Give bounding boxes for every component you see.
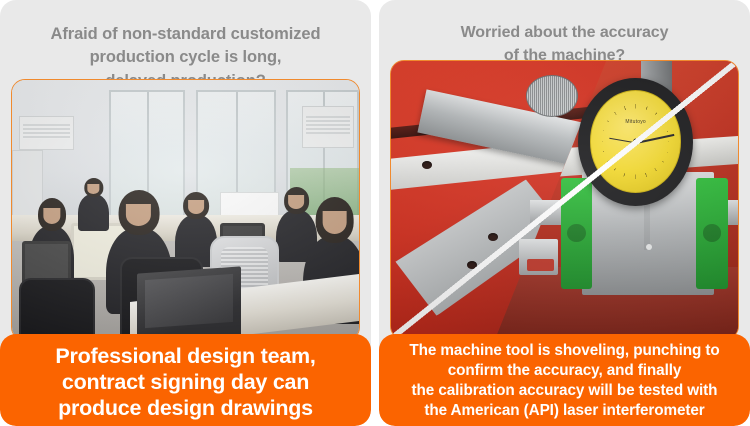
comparison-banner: Afraid of non-standard customized produc…: [0, 0, 750, 426]
panel-caption-left: Professional design team, contract signi…: [0, 334, 371, 426]
photo-frame-design-team: [11, 79, 360, 341]
photo-frame-machine: Mitutoyo: [390, 60, 739, 340]
photo-vignette: [391, 61, 738, 339]
photo-vignette: [12, 80, 359, 340]
panel-machine-accuracy: Worried about the accuracy of the machin…: [379, 0, 750, 426]
office-photo: [12, 80, 359, 340]
machine-photo: Mitutoyo: [391, 61, 738, 339]
panel-design-team: Afraid of non-standard customized produc…: [0, 0, 371, 426]
panel-caption-right: The machine tool is shoveling, punching …: [379, 334, 750, 426]
